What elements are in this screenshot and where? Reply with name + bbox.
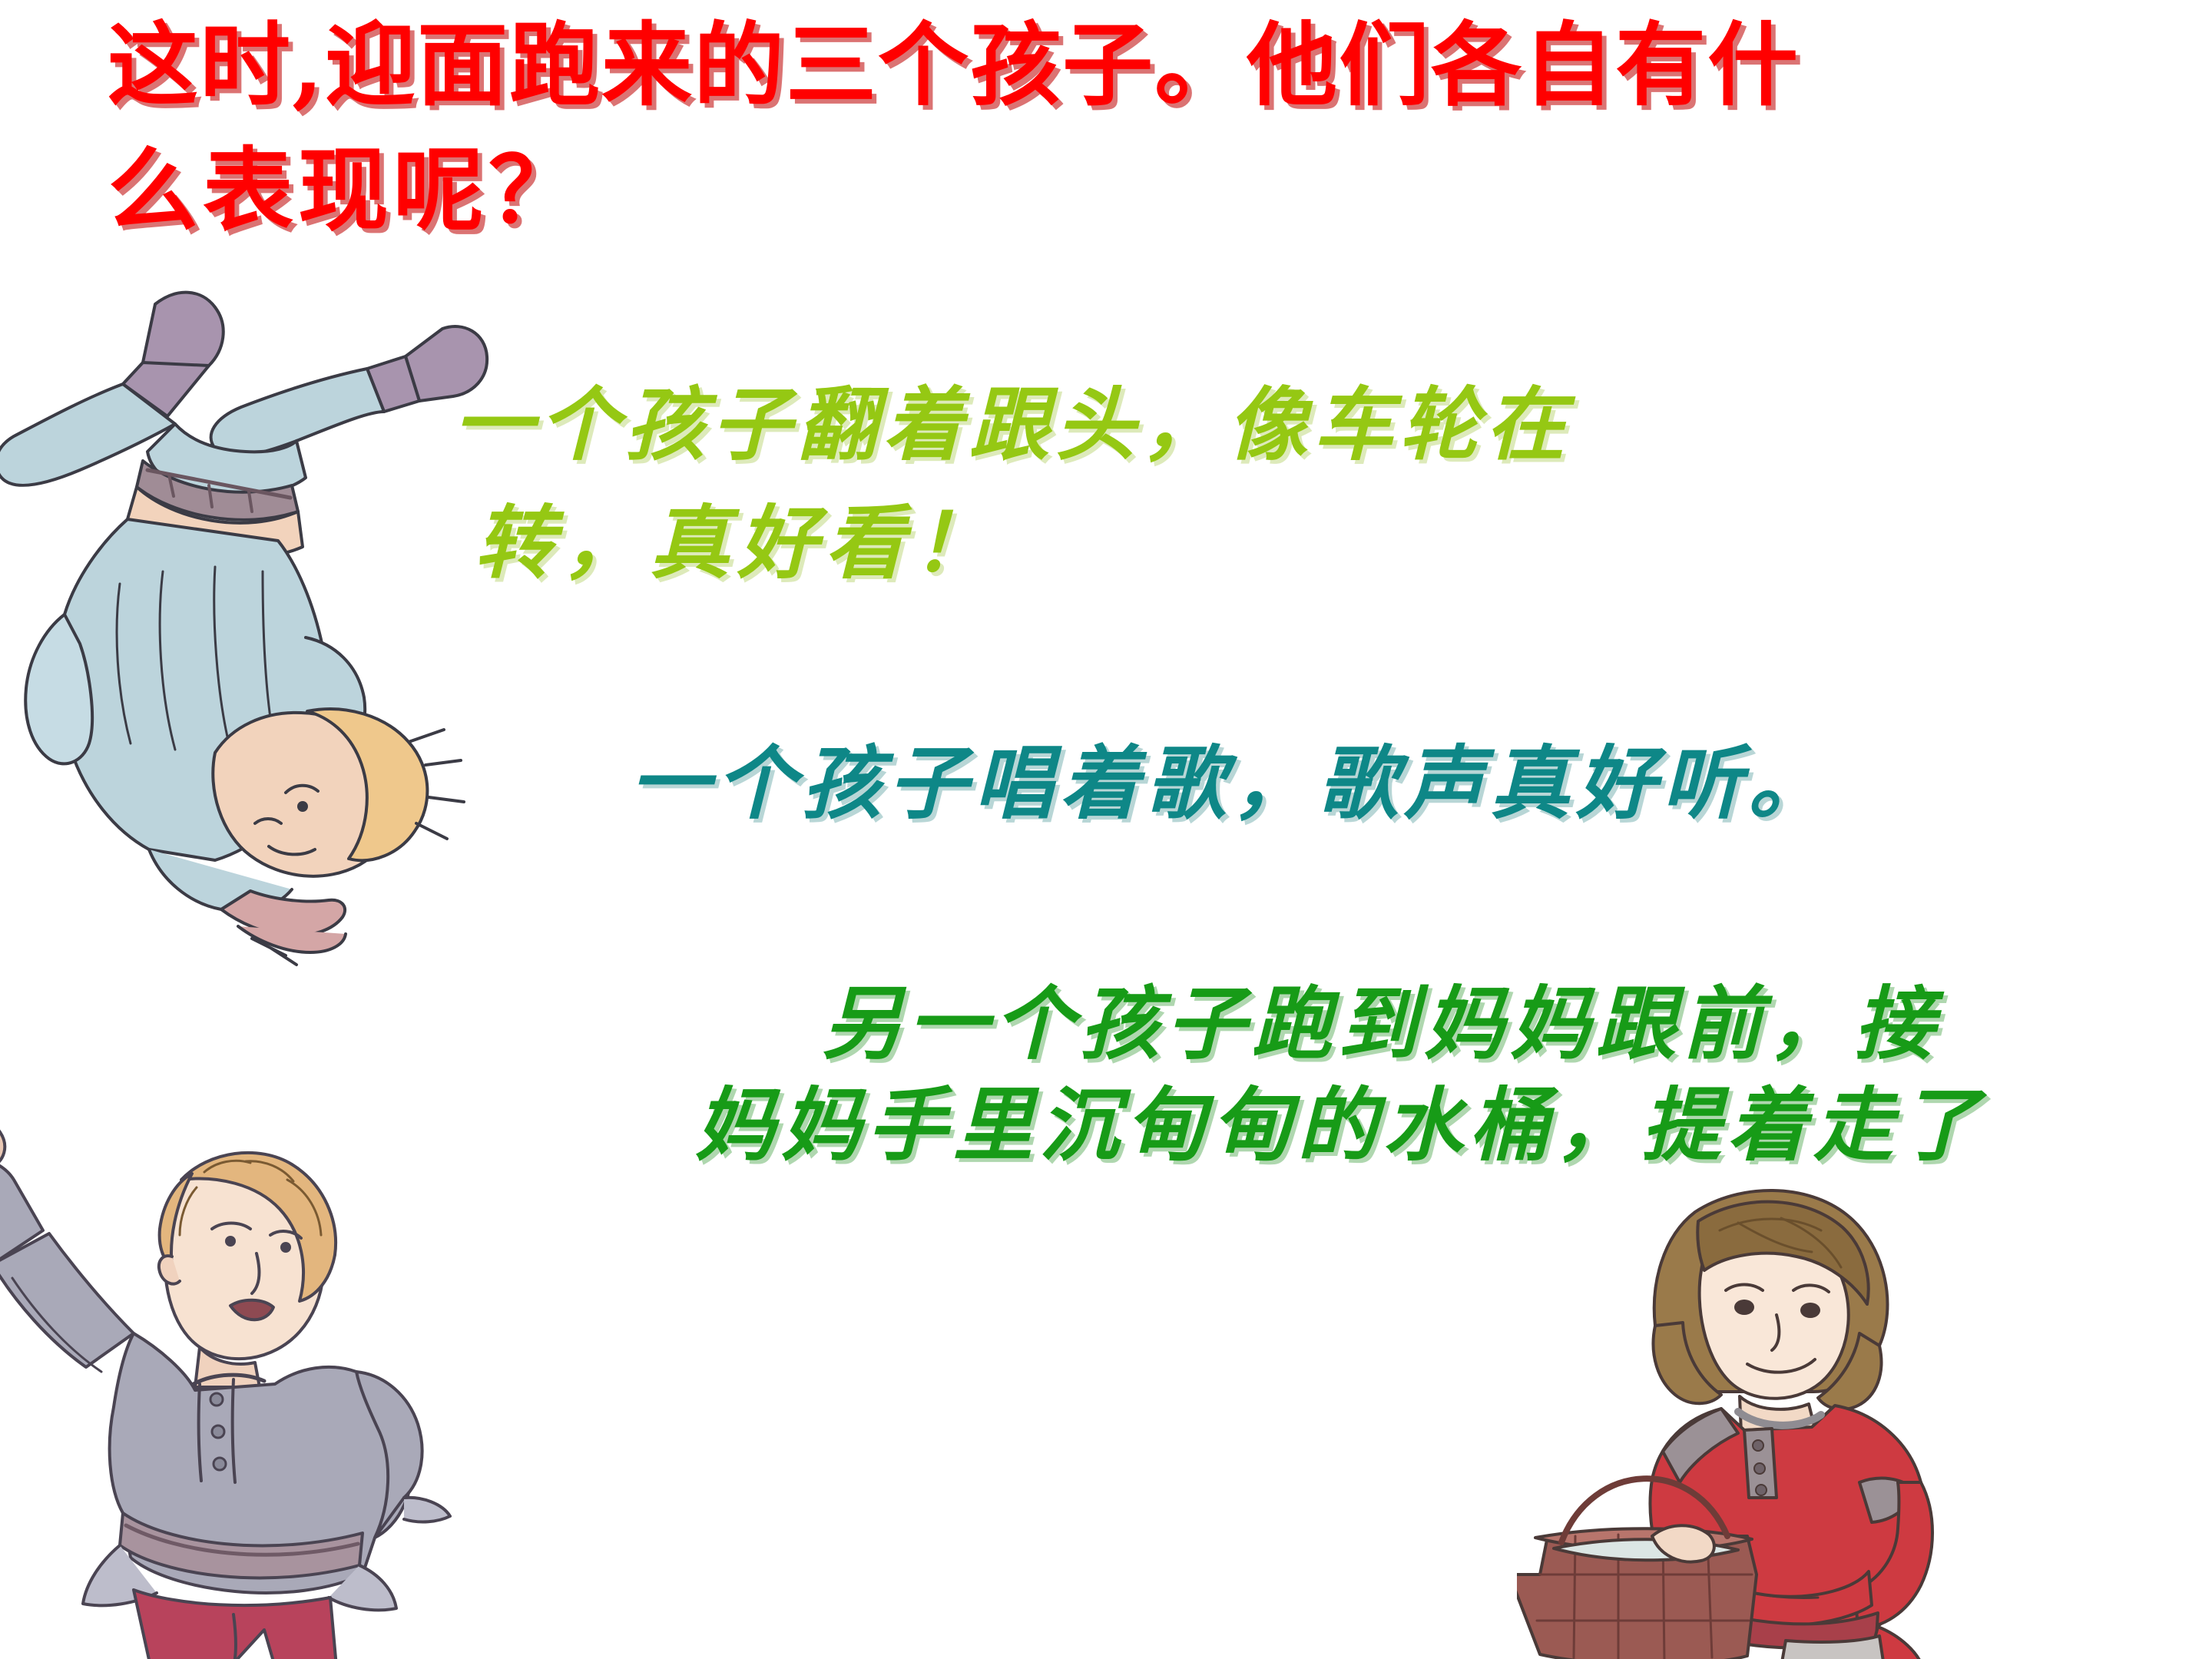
paragraph-dark-green-line-1: 另一个孩子跑到妈妈跟前，接 — [822, 974, 1940, 1074]
title-line-1: 这时,迎面跑来的三个孩子。他们各自有什 — [108, 3, 2212, 128]
slide-title: 这时,迎面跑来的三个孩子。他们各自有什 么表现呢？ — [108, 3, 2212, 253]
paragraph-dark-green-line-2: 妈妈手里沉甸甸的水桶，提着走了 — [695, 1075, 1985, 1175]
slide-canvas: 这时,迎面跑来的三个孩子。他们各自有什 么表现呢？ 一个孩子翻着跟头，像车轮在 … — [0, 0, 2212, 1659]
tumbling-child-illustration — [0, 276, 507, 968]
girl-with-bucket-illustration — [1517, 1175, 2008, 1659]
title-line-2: 么表现呢？ — [108, 128, 2212, 253]
paragraph-light-green-line-1: 一个孩子翻着跟头，像车轮在 — [453, 375, 1571, 475]
paragraph-light-green-line-2: 转，真好看！ — [475, 493, 1000, 593]
singing-boy-illustration — [0, 1114, 492, 1659]
paragraph-teal-line-1: 一个孩子唱着歌，歌声真好听。 — [630, 733, 1834, 833]
